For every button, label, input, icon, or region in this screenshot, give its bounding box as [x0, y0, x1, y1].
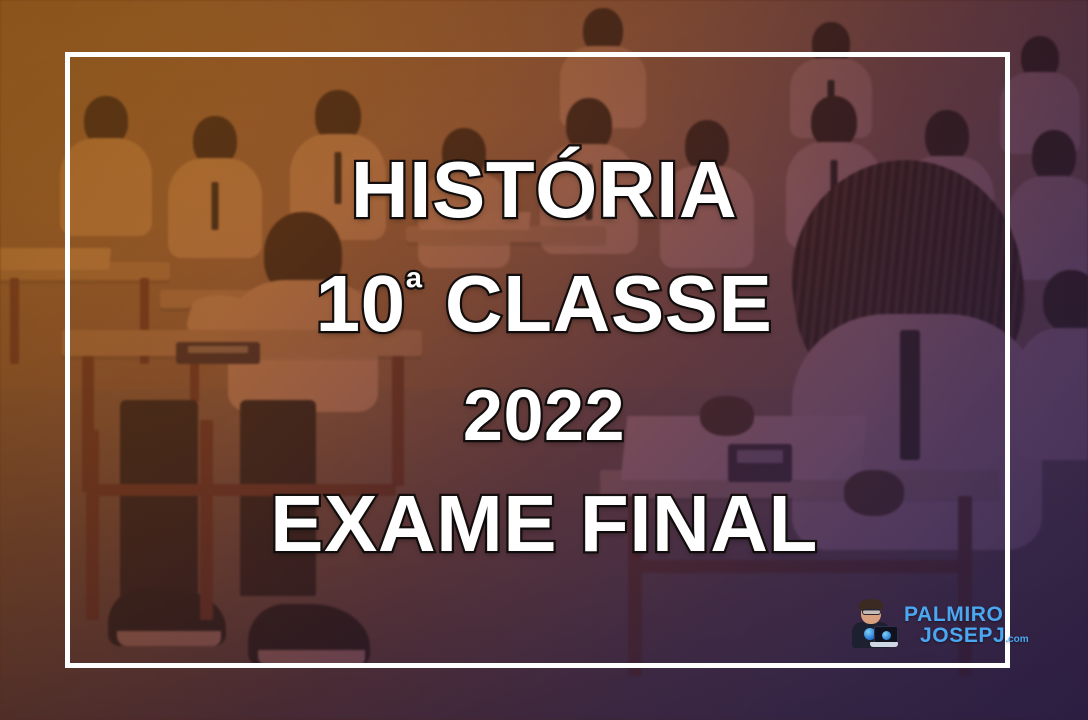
- brand-logo[interactable]: PALMIRO JOSEPJ.com: [848, 594, 1004, 656]
- person-at-laptop-icon: [848, 598, 898, 652]
- brand-name-line2: JOSEPJ.com: [920, 625, 1029, 646]
- brand-logo-text: PALMIRO JOSEPJ.com: [904, 604, 1029, 647]
- laptop-icon: [870, 626, 898, 648]
- avatar-glasses-icon: [862, 609, 881, 615]
- laptop-keyboard: [870, 642, 898, 647]
- laptop-screen: [874, 626, 898, 643]
- brand-name-line1: PALMIRO: [904, 604, 1029, 625]
- exam-poster: HISTÓRIA 10ª CLASSE 2022 EXAME FINAL PAL…: [0, 0, 1088, 720]
- brand-name-second-word: JOSEPJ: [920, 624, 1005, 647]
- brand-tld: .com: [1005, 634, 1028, 645]
